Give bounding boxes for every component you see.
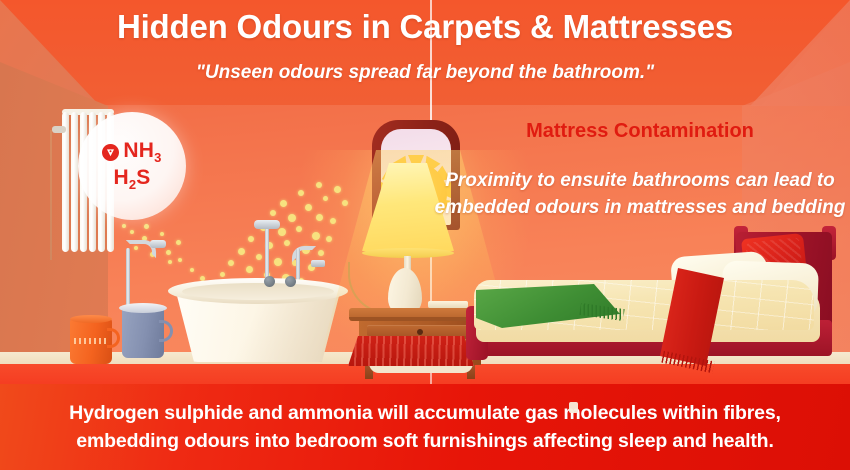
orange-pot-pattern xyxy=(74,338,108,344)
radiator-pipe xyxy=(50,130,52,260)
bed-leg-artifact xyxy=(569,402,578,413)
warning-badge-icon xyxy=(102,144,119,161)
basin-faucet-knob xyxy=(150,240,166,248)
formula-row-hydrogen-sulphide: H2S xyxy=(113,166,150,193)
shower-head-icon xyxy=(254,220,280,229)
shower-pipe xyxy=(265,226,269,280)
gas-molecule-dot xyxy=(334,186,341,193)
banner-line-2: embedding odours into bedroom soft furni… xyxy=(76,430,773,452)
gas-molecule-dot xyxy=(274,258,282,266)
orange-pot xyxy=(70,318,112,364)
gas-molecule-dot xyxy=(296,226,302,232)
drawer-knob-icon xyxy=(417,329,423,335)
bottom-banner-text: Hydrogen sulphide and ammonia will accum… xyxy=(53,399,797,456)
page-subtitle: "Unseen odours spread far beyond the bat… xyxy=(0,62,850,84)
gas-molecule-dot xyxy=(248,236,254,242)
gas-molecule-dot xyxy=(270,210,276,216)
gas-molecule-dot xyxy=(144,224,149,229)
gas-molecule-dot xyxy=(178,258,182,262)
gas-molecule-dot xyxy=(312,232,320,240)
orange-pot-lid xyxy=(70,315,112,323)
gas-molecule-dot xyxy=(130,230,134,234)
gas-molecule-dot xyxy=(190,268,194,272)
gas-molecule-dot xyxy=(278,228,286,236)
tub-knob xyxy=(285,276,296,287)
basin-faucet-arm xyxy=(126,248,130,310)
radiator-tube xyxy=(62,112,69,252)
gas-molecule-dot xyxy=(323,196,328,201)
formula-row-ammonia: NH3 xyxy=(102,139,161,166)
gas-molecule-dot xyxy=(220,272,225,277)
bed xyxy=(470,232,840,372)
gas-molecule-dot xyxy=(342,200,348,206)
gas-molecule-dot xyxy=(284,240,290,246)
gas-molecule-dot xyxy=(280,200,287,207)
callout-heading: Mattress Contamination xyxy=(440,120,840,143)
radiator-valve xyxy=(52,126,66,133)
gas-molecule-dot xyxy=(318,250,324,256)
radiator-tube xyxy=(71,112,78,252)
gas-molecule-dot xyxy=(316,182,322,188)
gas-molecule-dot xyxy=(316,214,323,221)
page-title: Hidden Odours in Carpets & Mattresses xyxy=(0,8,850,46)
gas-molecule-dot xyxy=(256,254,262,260)
gas-molecule-dot xyxy=(288,214,296,222)
banner-bottom-texture xyxy=(0,460,850,470)
nightstand-drawer[interactable] xyxy=(367,325,473,336)
gas-molecule-dot xyxy=(160,232,164,236)
gas-molecule-dot xyxy=(228,260,234,266)
banner-line-1: Hydrogen sulphide and ammonia will accum… xyxy=(69,402,781,424)
blue-pot xyxy=(122,308,164,358)
gas-molecule-dot xyxy=(246,266,253,273)
blue-pot-lid xyxy=(119,303,167,313)
gas-bubble: NH3 H2S xyxy=(78,112,186,220)
formula-ammonia: NH3 xyxy=(123,139,161,166)
rug-weave xyxy=(348,336,474,366)
bottom-banner: Hydrogen sulphide and ammonia will accum… xyxy=(0,384,850,470)
nightstand-book xyxy=(428,301,468,308)
gas-molecule-dot xyxy=(326,236,332,242)
tap-stem xyxy=(296,248,300,280)
gas-molecule-dot xyxy=(168,260,172,264)
tub-knob xyxy=(264,276,275,287)
callout-body: Proximity to ensuite bathrooms can lead … xyxy=(430,168,850,222)
bathtub-basin xyxy=(182,283,334,300)
gas-molecule-dot xyxy=(330,218,336,224)
infographic-canvas: NH3 H2S xyxy=(0,0,850,470)
gas-molecule-dot xyxy=(298,190,304,196)
bathtub xyxy=(168,278,348,362)
tap-head xyxy=(311,260,325,267)
gas-molecule-dot xyxy=(122,224,126,228)
gas-molecule-dot xyxy=(305,204,312,211)
gas-molecule-dot xyxy=(176,240,181,245)
gas-molecule-dot xyxy=(238,248,245,255)
formula-hydrogen-sulphide: H2S xyxy=(113,166,150,193)
gas-molecule-dot xyxy=(166,250,171,255)
